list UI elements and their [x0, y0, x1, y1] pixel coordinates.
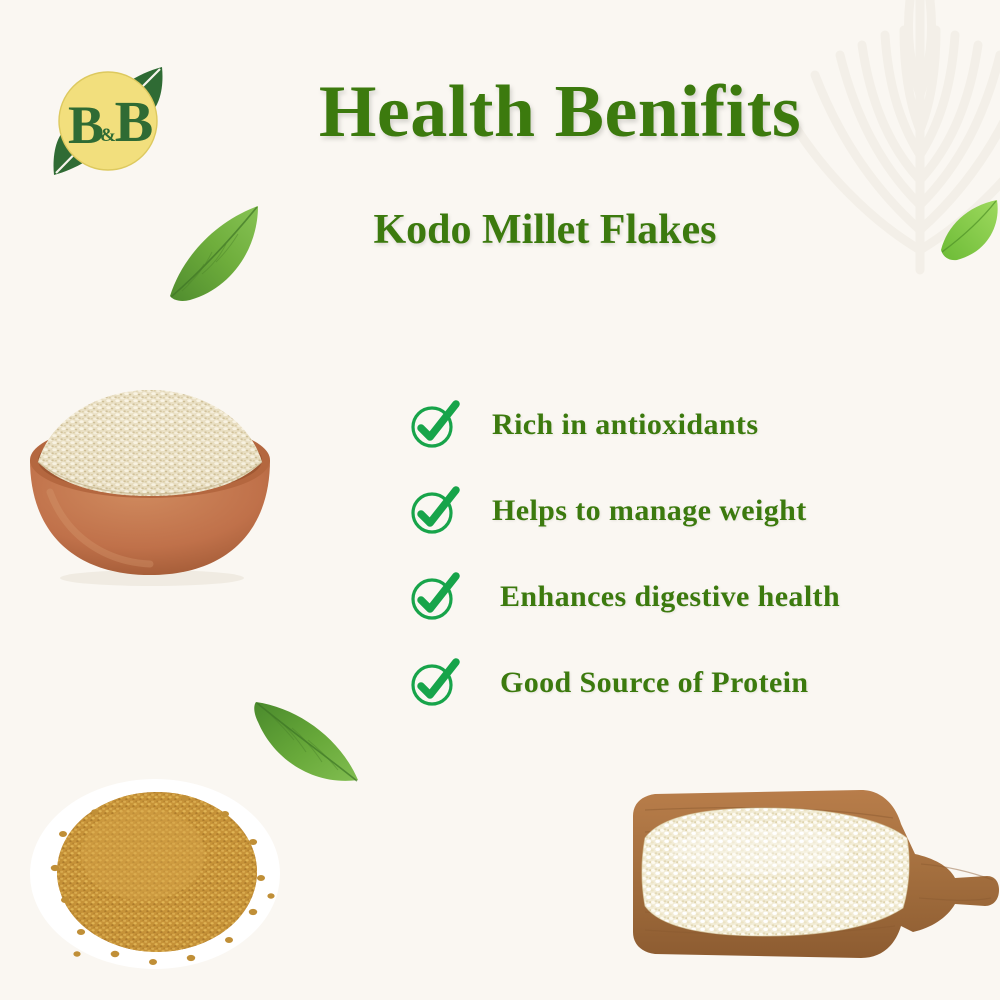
check-circle-icon	[408, 571, 460, 623]
list-item: Enhances digestive health	[408, 554, 968, 640]
check-circle-icon	[408, 399, 460, 451]
logo-monogram-ampersand: &	[100, 125, 116, 146]
health-benefits-poster: B & B Health Benifits Kodo Millet Flakes…	[0, 0, 1000, 1000]
list-item: Rich in antioxidants	[408, 382, 968, 468]
benefit-label: Good Source of Protein	[500, 666, 809, 700]
benefits-list: Rich in antioxidants Helps to manage wei…	[408, 382, 968, 726]
logo-monogram-left: B	[68, 95, 104, 155]
list-item: Good Source of Protein	[408, 640, 968, 726]
logo-monogram-right: B	[115, 89, 154, 154]
list-item: Helps to manage weight	[408, 468, 968, 554]
check-circle-icon	[408, 657, 460, 709]
wooden-scoop-with-flakes-photo	[615, 780, 1000, 970]
page-subtitle: Kodo Millet Flakes	[245, 206, 845, 254]
benefit-label: Helps to manage weight	[492, 494, 807, 528]
benefit-label: Rich in antioxidants	[492, 408, 758, 442]
leaf-right-edge-icon	[935, 198, 1000, 270]
b-and-b-logo: B & B	[44, 57, 172, 185]
bowl-of-millet-flakes-photo	[12, 382, 287, 587]
page-title: Health Benifits	[210, 74, 910, 152]
benefit-label: Enhances digestive health	[500, 580, 840, 614]
kodo-millet-grains-photo	[25, 772, 295, 977]
check-circle-icon	[408, 485, 460, 537]
